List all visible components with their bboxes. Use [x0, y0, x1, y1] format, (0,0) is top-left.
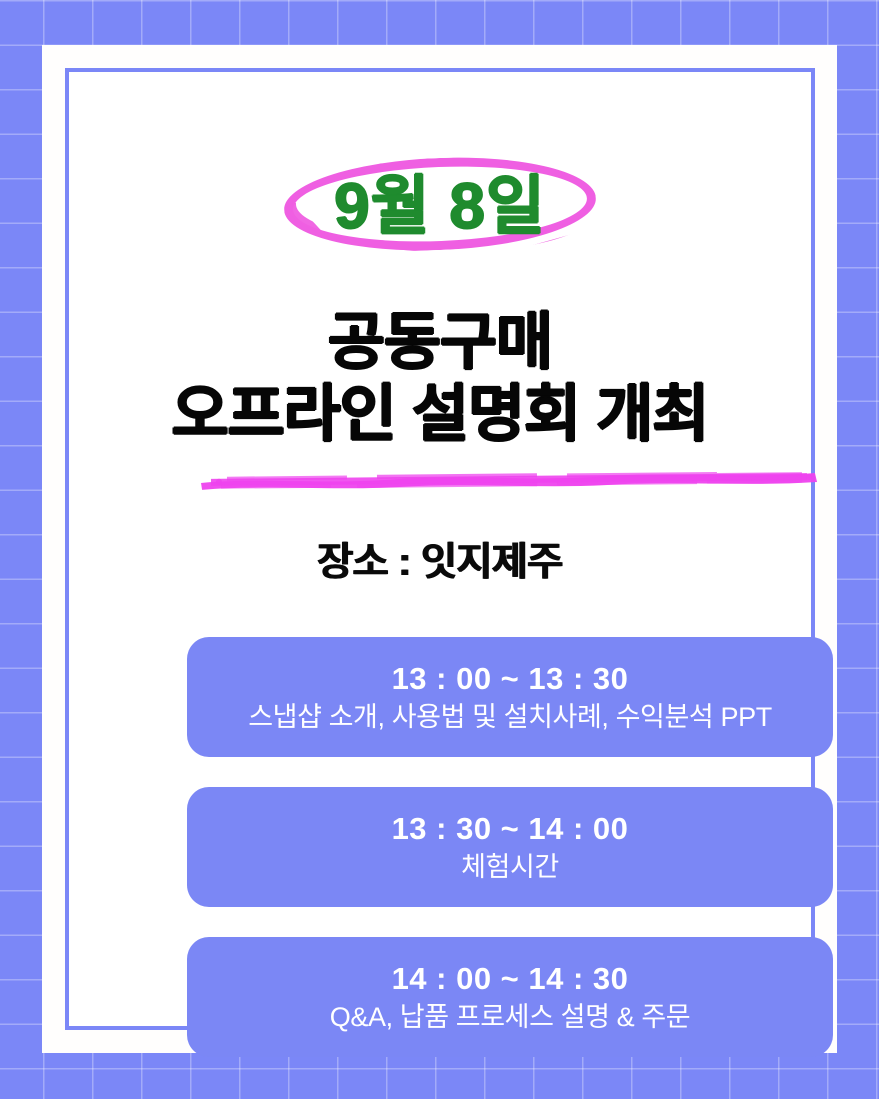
marker-highlight-stroke-icon	[197, 467, 819, 492]
schedule-description: 체험시간	[461, 851, 559, 885]
date-text: 9월 8일	[334, 174, 546, 238]
schedule-time: 13 : 00 ~ 13 : 30	[392, 660, 629, 699]
event-poster: 9월 8일 공동구매 오프라인 설명회 개최	[0, 0, 879, 1099]
schedule-description: 스냅샵 소개, 사용법 및 설치사례, 수익분석 PPT	[248, 701, 772, 735]
schedule-time: 13 : 30 ~ 14 : 00	[392, 810, 629, 849]
poster-inner-border: 9월 8일 공동구매 오프라인 설명회 개최	[65, 68, 815, 1030]
schedule-card: 14 : 00 ~ 14 : 30 Q&A, 납품 프로세스 설명 & 주문	[187, 937, 833, 1057]
schedule-list: 13 : 00 ~ 13 : 30 스냅샵 소개, 사용법 및 설치사례, 수익…	[187, 637, 833, 1057]
schedule-card: 13 : 30 ~ 14 : 00 체험시간	[187, 787, 833, 907]
poster-white-frame: 9월 8일 공동구매 오프라인 설명회 개최	[42, 45, 837, 1053]
headline-line-2: 오프라인 설명회 개최	[69, 382, 811, 448]
schedule-card: 13 : 00 ~ 13 : 30 스냅샵 소개, 사용법 및 설치사례, 수익…	[187, 637, 833, 757]
page-title: 공동구매 오프라인 설명회 개최	[69, 310, 811, 447]
schedule-time: 14 : 00 ~ 14 : 30	[392, 960, 629, 999]
date-badge: 9월 8일	[69, 151, 811, 261]
venue-text: 장소 : 잇지제주	[69, 531, 811, 587]
schedule-description: Q&A, 납품 프로세스 설명 & 주문	[330, 1001, 690, 1035]
headline-line-1: 공동구매	[69, 310, 811, 376]
